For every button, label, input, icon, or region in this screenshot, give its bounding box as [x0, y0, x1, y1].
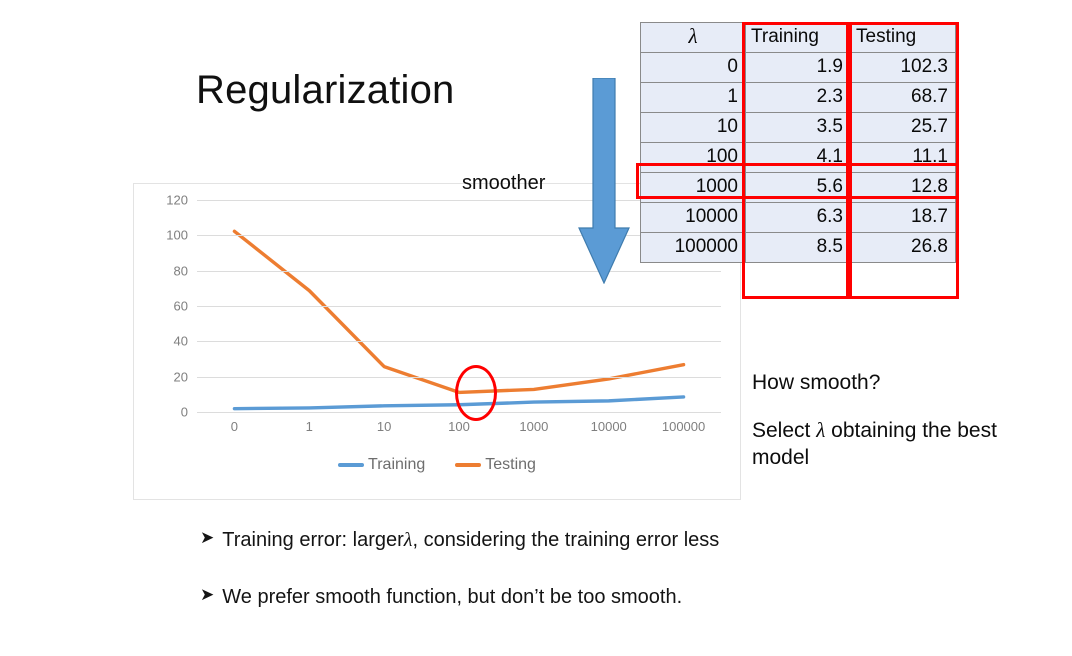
cell-lambda: 1	[641, 83, 746, 113]
legend-label: Testing	[485, 456, 536, 474]
table: λ Training Testing 01.9102.312.368.7103.…	[640, 22, 956, 263]
legend-item-testing[interactable]: Testing	[455, 456, 536, 474]
smoother-label: smoother	[462, 172, 545, 195]
y-axis-tick-label: 60	[174, 299, 188, 314]
chart-legend: TrainingTesting	[134, 456, 740, 474]
note-select-lambda: Select λ obtaining the best model	[752, 417, 1052, 472]
bullet-item: ➤We prefer smooth function, but don’t be…	[200, 585, 1020, 609]
cell-testing: 102.3	[851, 53, 956, 83]
table-row: 103.525.7	[641, 113, 956, 143]
cell-lambda: 1000	[641, 173, 746, 203]
chart-gridline	[197, 412, 721, 413]
table-row: 01.9102.3	[641, 53, 956, 83]
chart-gridline	[197, 306, 721, 307]
cell-training: 8.5	[746, 233, 851, 263]
cell-lambda: 10	[641, 113, 746, 143]
page-title: Regularization	[196, 68, 455, 113]
column-header-training: Training	[746, 23, 851, 53]
bullet-item: ➤Training error: largerλ, considering th…	[200, 528, 1020, 552]
table-header-row: λ Training Testing	[641, 23, 956, 53]
cell-lambda: 100000	[641, 233, 746, 263]
cell-training: 2.3	[746, 83, 851, 113]
chart-gridline	[197, 377, 721, 378]
cell-training: 6.3	[746, 203, 851, 233]
down-arrow-icon	[578, 78, 630, 284]
x-axis-tick-label: 10000	[591, 419, 627, 434]
cell-training: 3.5	[746, 113, 851, 143]
cell-lambda: 0	[641, 53, 746, 83]
chart-gridline	[197, 271, 721, 272]
cell-testing: 25.7	[851, 113, 956, 143]
cell-testing: 68.7	[851, 83, 956, 113]
y-axis-tick-label: 80	[174, 263, 188, 278]
cell-training: 1.9	[746, 53, 851, 83]
legend-swatch-testing	[455, 463, 481, 467]
y-axis-tick-label: 100	[166, 228, 188, 243]
cell-training: 5.6	[746, 173, 851, 203]
lambda-symbol: λ	[688, 24, 697, 48]
x-axis-tick-label: 100000	[662, 419, 705, 434]
cell-testing: 18.7	[851, 203, 956, 233]
column-header-testing: Testing	[851, 23, 956, 53]
table-row: 1000008.526.8	[641, 233, 956, 263]
bullet-marker-icon: ➤	[200, 528, 214, 548]
cell-testing: 11.1	[851, 143, 956, 173]
x-axis-tick-label: 1000	[519, 419, 548, 434]
x-axis-tick-label: 1	[306, 419, 313, 434]
lambda-results-table: λ Training Testing 01.9102.312.368.7103.…	[640, 22, 956, 263]
legend-item-training[interactable]: Training	[338, 456, 425, 474]
y-axis-tick-label: 20	[174, 369, 188, 384]
lambda-symbol: λ	[816, 418, 825, 442]
chart-line-training	[234, 397, 683, 409]
legend-label: Training	[368, 456, 425, 474]
bullet-list: ➤Training error: largerλ, considering th…	[200, 528, 1020, 642]
y-axis-tick-label: 120	[166, 193, 188, 208]
table-row: 1004.111.1	[641, 143, 956, 173]
lambda-symbol: λ	[404, 529, 413, 551]
bullet-text: We prefer smooth function, but don’t be …	[222, 585, 682, 609]
x-axis-tick-label: 100	[448, 419, 470, 434]
chart-gridline	[197, 341, 721, 342]
table-row: 12.368.7	[641, 83, 956, 113]
table-row: 10005.612.8	[641, 173, 956, 203]
cell-training: 4.1	[746, 143, 851, 173]
cell-lambda: 100	[641, 143, 746, 173]
bullet-marker-icon: ➤	[200, 585, 214, 605]
legend-swatch-training	[338, 463, 364, 467]
y-axis-tick-label: 40	[174, 334, 188, 349]
column-header-lambda: λ	[641, 23, 746, 53]
cell-testing: 26.8	[851, 233, 956, 263]
y-axis-tick-label: 0	[181, 405, 188, 420]
note-how-smooth: How smooth?	[752, 370, 1052, 397]
bullet-text: Training error: largerλ, considering the…	[222, 528, 719, 552]
notes-block: How smooth? Select λ obtaining the best …	[752, 370, 1052, 472]
x-axis-tick-label: 10	[377, 419, 391, 434]
cell-lambda: 10000	[641, 203, 746, 233]
x-axis-tick-label: 0	[231, 419, 238, 434]
table-row: 100006.318.7	[641, 203, 956, 233]
cell-testing: 12.8	[851, 173, 956, 203]
